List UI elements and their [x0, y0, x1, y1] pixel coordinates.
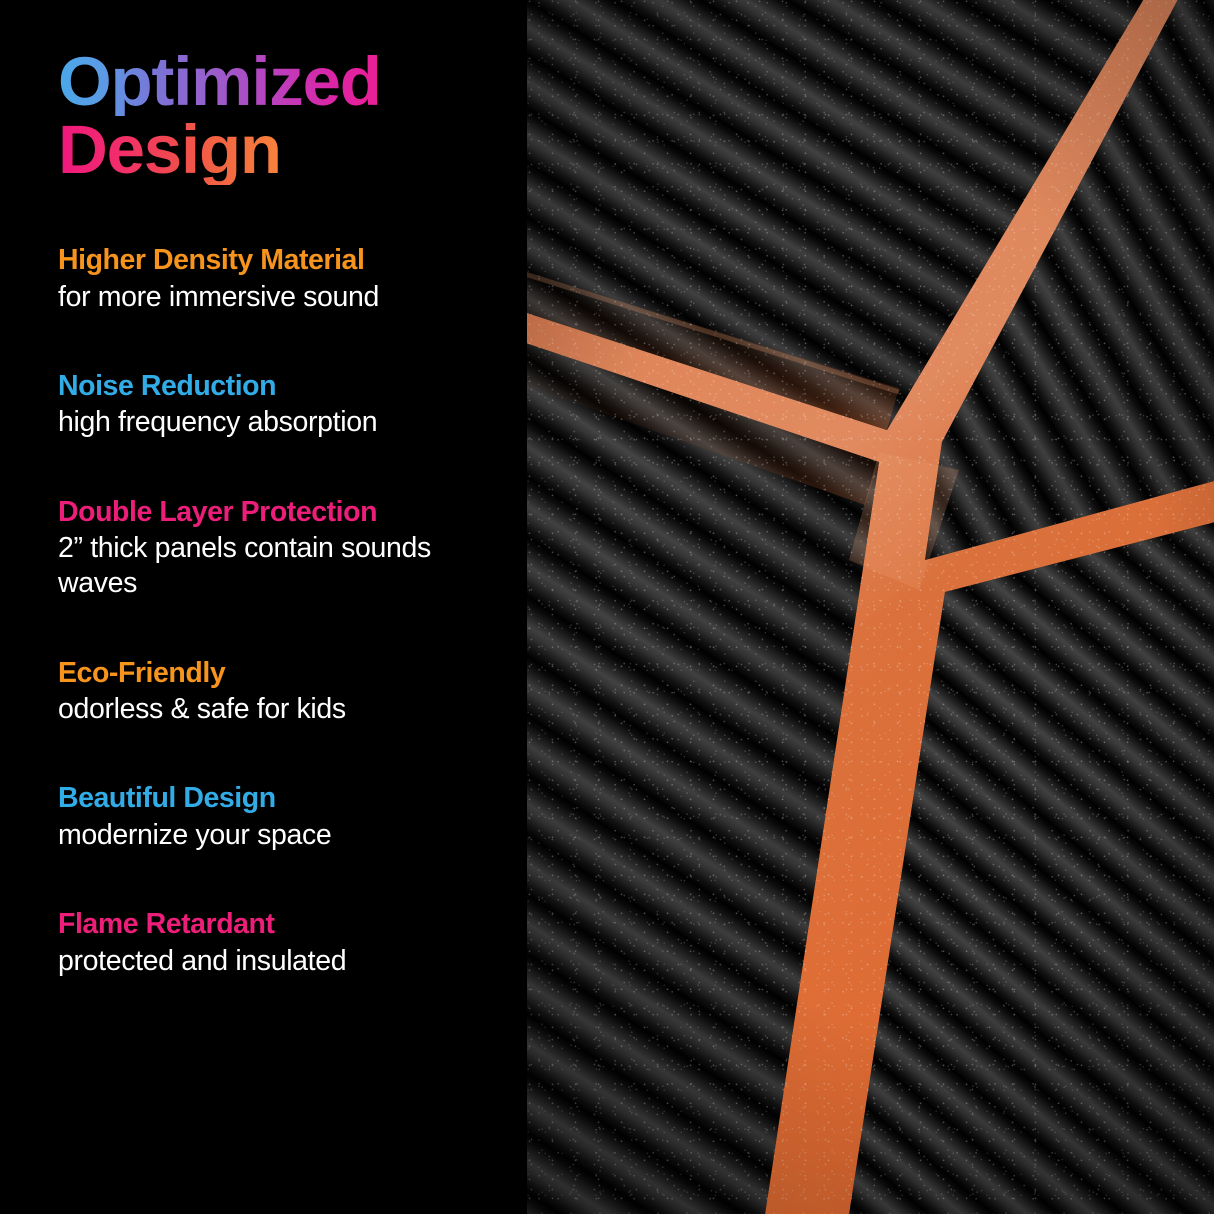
acoustic-foam-image	[527, 0, 1214, 1214]
feature-title: Beautiful Design	[58, 783, 509, 815]
feature-item-eco-friendly: Eco-Friendly odorless & safe for kids	[58, 658, 509, 728]
feature-item-higher-density-material: Higher Density Material for more immersi…	[58, 245, 509, 315]
feature-title: Double Layer Protection	[58, 497, 509, 529]
headline-line-1: Optimized	[58, 48, 381, 116]
feature-description: protected and insulated	[58, 944, 509, 979]
feature-description: for more immersive sound	[58, 280, 509, 315]
feature-title: Noise Reduction	[58, 371, 509, 403]
feature-title: Flame Retardant	[58, 909, 509, 941]
text-panel: Optimized Design Higher Density Material…	[0, 0, 527, 1214]
feature-item-flame-retardant: Flame Retardant protected and insulated	[58, 909, 509, 979]
feature-description: high frequency absorption	[58, 405, 509, 440]
product-feature-poster: Optimized Design Higher Density Material…	[0, 0, 1214, 1214]
product-photo	[527, 0, 1214, 1214]
feature-item-noise-reduction: Noise Reduction high frequency absorptio…	[58, 371, 509, 441]
feature-description: 2” thick panels contain sounds waves	[58, 531, 509, 601]
feature-title: Eco-Friendly	[58, 658, 509, 690]
headline-line-2: Design	[58, 116, 281, 184]
page-title: Optimized Design	[58, 48, 527, 185]
feature-list: Higher Density Material for more immersi…	[58, 245, 527, 980]
feature-item-beautiful-design: Beautiful Design modernize your space	[58, 783, 509, 853]
feature-description: modernize your space	[58, 818, 509, 853]
feature-title: Higher Density Material	[58, 245, 509, 277]
feature-item-double-layer-protection: Double Layer Protection 2” thick panels …	[58, 497, 509, 602]
feature-description: odorless & safe for kids	[58, 692, 509, 727]
